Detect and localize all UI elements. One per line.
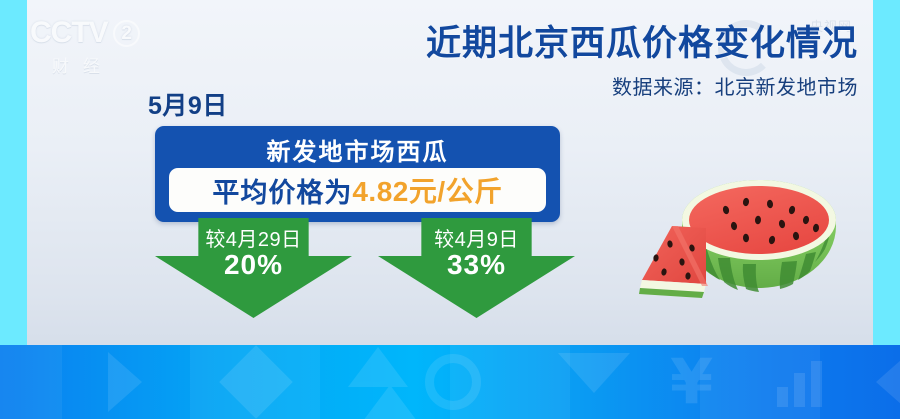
date-label: 5月9日: [148, 86, 228, 122]
cctv-logo-subtitle: 财经: [52, 52, 158, 77]
watermelon-wedge: [639, 226, 708, 298]
price-plate: 平均价格为 4.82元/公斤: [169, 168, 546, 212]
down-arrow-icon-2: 较4月9日 33%: [378, 218, 575, 318]
down-arrow-icon-1: 较4月29日 20%: [155, 218, 352, 318]
bottom-decorative-bar: ¥: [0, 345, 900, 419]
cctv2-channel-logo: CCTV 2 财经: [30, 18, 158, 80]
compare-label-2: 较4月9日: [378, 223, 575, 252]
price-panel: 新发地市场西瓜 平均价格为 4.82元/公斤: [155, 126, 560, 222]
bar-chart-icon: [777, 361, 822, 407]
data-source-line: 数据来源：北京新发地市场: [426, 71, 858, 100]
cctv-logo-number: 2: [113, 20, 140, 47]
compare-label-1: 较4月29日: [155, 223, 352, 252]
left-edge-strip: [0, 0, 27, 345]
percent-value-1: 20%: [155, 249, 352, 281]
triangle-down-icon: [558, 353, 630, 393]
market-title: 新发地市场西瓜: [155, 132, 560, 167]
triangle-up-icon-small: [360, 385, 420, 419]
cctv-logo-text: CCTV: [30, 18, 108, 48]
price-prefix-label: 平均价格为: [212, 171, 352, 210]
cctv-logo-mark: CCTV 2: [30, 18, 158, 48]
yen-currency-icon: ¥: [670, 351, 713, 413]
page-title: 近期北京西瓜价格变化情况: [426, 24, 858, 63]
circle-icon: [425, 354, 481, 410]
triangle-up-icon: [348, 347, 408, 387]
headline-block: 近期北京西瓜价格变化情况 数据来源：北京新发地市场: [426, 24, 858, 100]
chevron-right-icon: [108, 352, 142, 412]
price-value: 4.82元/公斤: [352, 170, 502, 210]
watermelon-illustration: [634, 158, 884, 326]
percent-value-2: 33%: [378, 249, 575, 281]
infographic-stage: CCTV 2 财经 央视网 com 近期北京西瓜价格变化情况 数据来源：北京新发…: [0, 0, 900, 419]
chevron-left-icon: [876, 352, 900, 412]
diamond-icon: [219, 345, 293, 419]
